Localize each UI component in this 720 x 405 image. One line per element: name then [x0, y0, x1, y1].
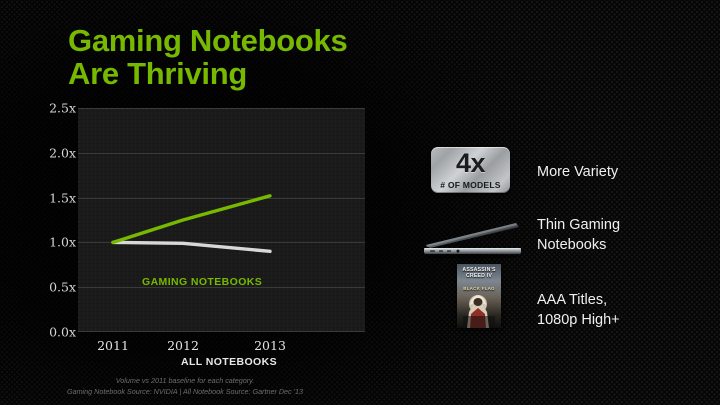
series-line-all-notebooks — [113, 242, 270, 251]
highlight-label-thin-gaming-notebooks: Thin Gaming Notebooks — [537, 215, 620, 255]
series-label-gaming-notebooks: GAMING NOTEBOOKS — [142, 276, 262, 288]
badge-value: 4x — [431, 148, 510, 179]
badge-caption: # OF MODELS — [431, 180, 510, 190]
highlight-label-aaa-titles: AAA Titles, 1080p High+ — [537, 290, 620, 330]
boxart-artwork — [457, 264, 501, 328]
series-line-gaming-notebooks — [113, 196, 270, 243]
footnote-line-1: Volume vs 2011 baseline for each categor… — [0, 375, 370, 386]
y-axis-tick: 2.0x — [32, 145, 76, 160]
slide-root: Gaming Notebooks Are Thriving 2.5x 2.0x … — [0, 0, 720, 405]
page-title: Gaming Notebooks Are Thriving — [68, 24, 428, 91]
footnote-line-2: Gaming Notebook Source: NVIDIA | All Not… — [0, 386, 370, 397]
y-axis-tick: 0.0x — [32, 325, 76, 340]
line-chart: 2.5x 2.0x 1.5x 1.0x 0.5x 0.0x GAMING NOT… — [20, 100, 370, 365]
x-axis-tick: 2012 — [167, 338, 199, 353]
game-boxart: ASSASSIN'S CREED IV BLACK FLAG — [457, 264, 501, 328]
series-label-all-notebooks: ALL NOTEBOOKS — [181, 356, 277, 368]
y-axis-tick: 2.5x — [32, 101, 76, 116]
chart-footnote: Volume vs 2011 baseline for each categor… — [0, 375, 370, 397]
y-axis-tick: 1.5x — [32, 190, 76, 205]
thin-laptop-icon — [418, 218, 530, 260]
y-axis-tick: 0.5x — [32, 280, 76, 295]
models-count-badge: 4x # OF MODELS — [431, 147, 510, 193]
highlight-label-more-variety: More Variety — [537, 162, 618, 182]
series-lines — [78, 108, 365, 332]
plot-area — [78, 108, 365, 332]
y-axis-tick: 1.0x — [32, 235, 76, 250]
title-line-1: Gaming Notebooks — [68, 23, 347, 58]
x-axis-tick: 2013 — [254, 338, 286, 353]
x-axis-tick: 2011 — [97, 338, 129, 353]
title-line-2: Are Thriving — [68, 57, 428, 90]
